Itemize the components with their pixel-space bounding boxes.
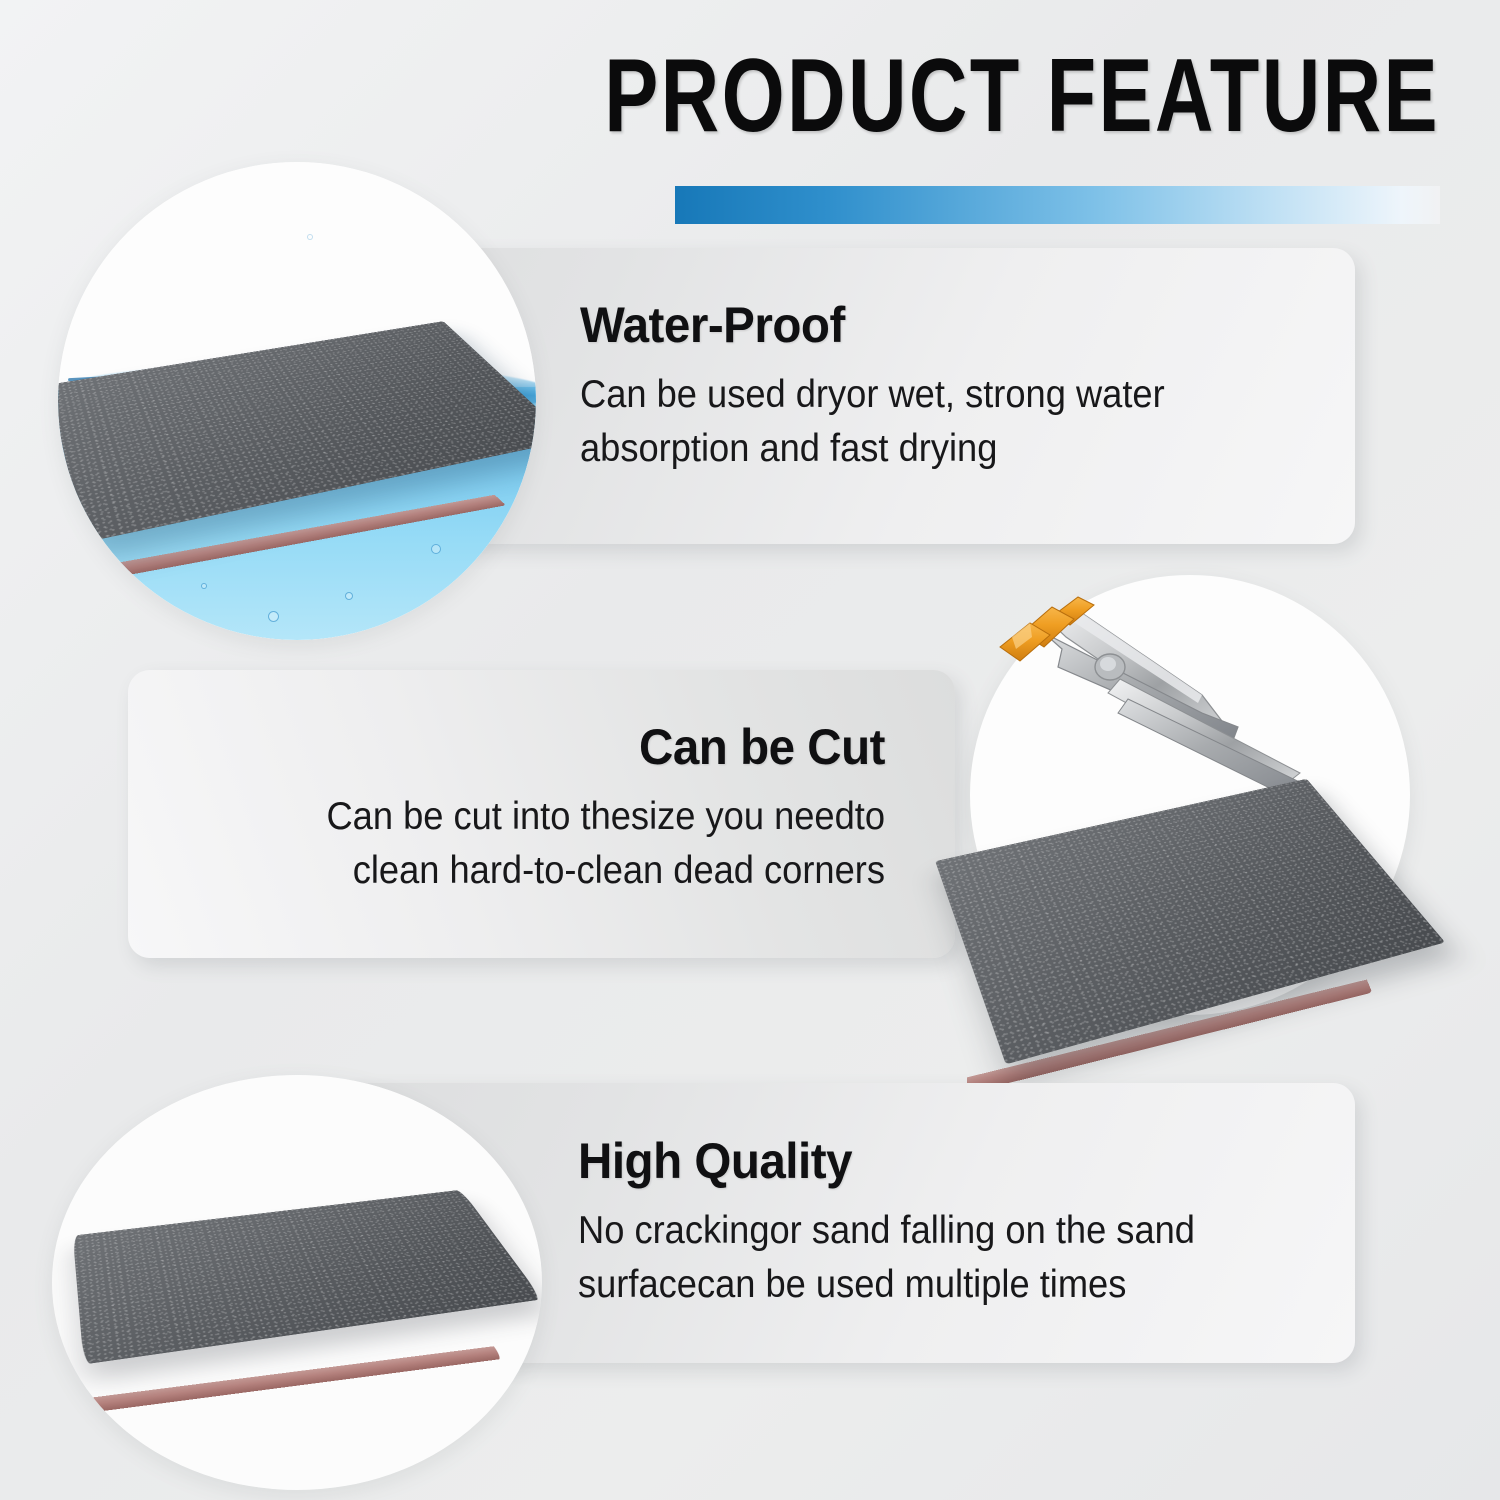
feature-body: Can be used dryor wet, strong water abso…	[580, 368, 1268, 476]
water-scene	[58, 162, 536, 640]
bubble-icon	[345, 592, 353, 600]
feature-title: Can be Cut	[211, 718, 886, 776]
feature-text-can-be-cut: Can be Cut Can be cut into thesize you n…	[175, 718, 885, 898]
scissors-cutting-sponge-circle-image	[970, 575, 1410, 1053]
feature-body: No crackingor sand falling on the sand s…	[578, 1204, 1294, 1312]
feature-text-water-proof: Water-Proof Can be used dryor wet, stron…	[580, 296, 1320, 476]
title-accent-bar	[675, 186, 1440, 224]
feature-text-high-quality: High Quality No crackingor sand falling …	[578, 1132, 1348, 1312]
page-title: PRODUCT FEATURE	[317, 38, 1440, 154]
sponge-floating-in-water-circle-image	[58, 162, 536, 640]
feature-title: High Quality	[578, 1132, 1310, 1190]
feature-body: Can be cut into thesize you needto clean…	[225, 790, 885, 898]
bubble-icon	[307, 234, 313, 240]
feature-title: Water-Proof	[580, 296, 1283, 354]
bent-sponge-circle-image	[52, 1075, 542, 1490]
